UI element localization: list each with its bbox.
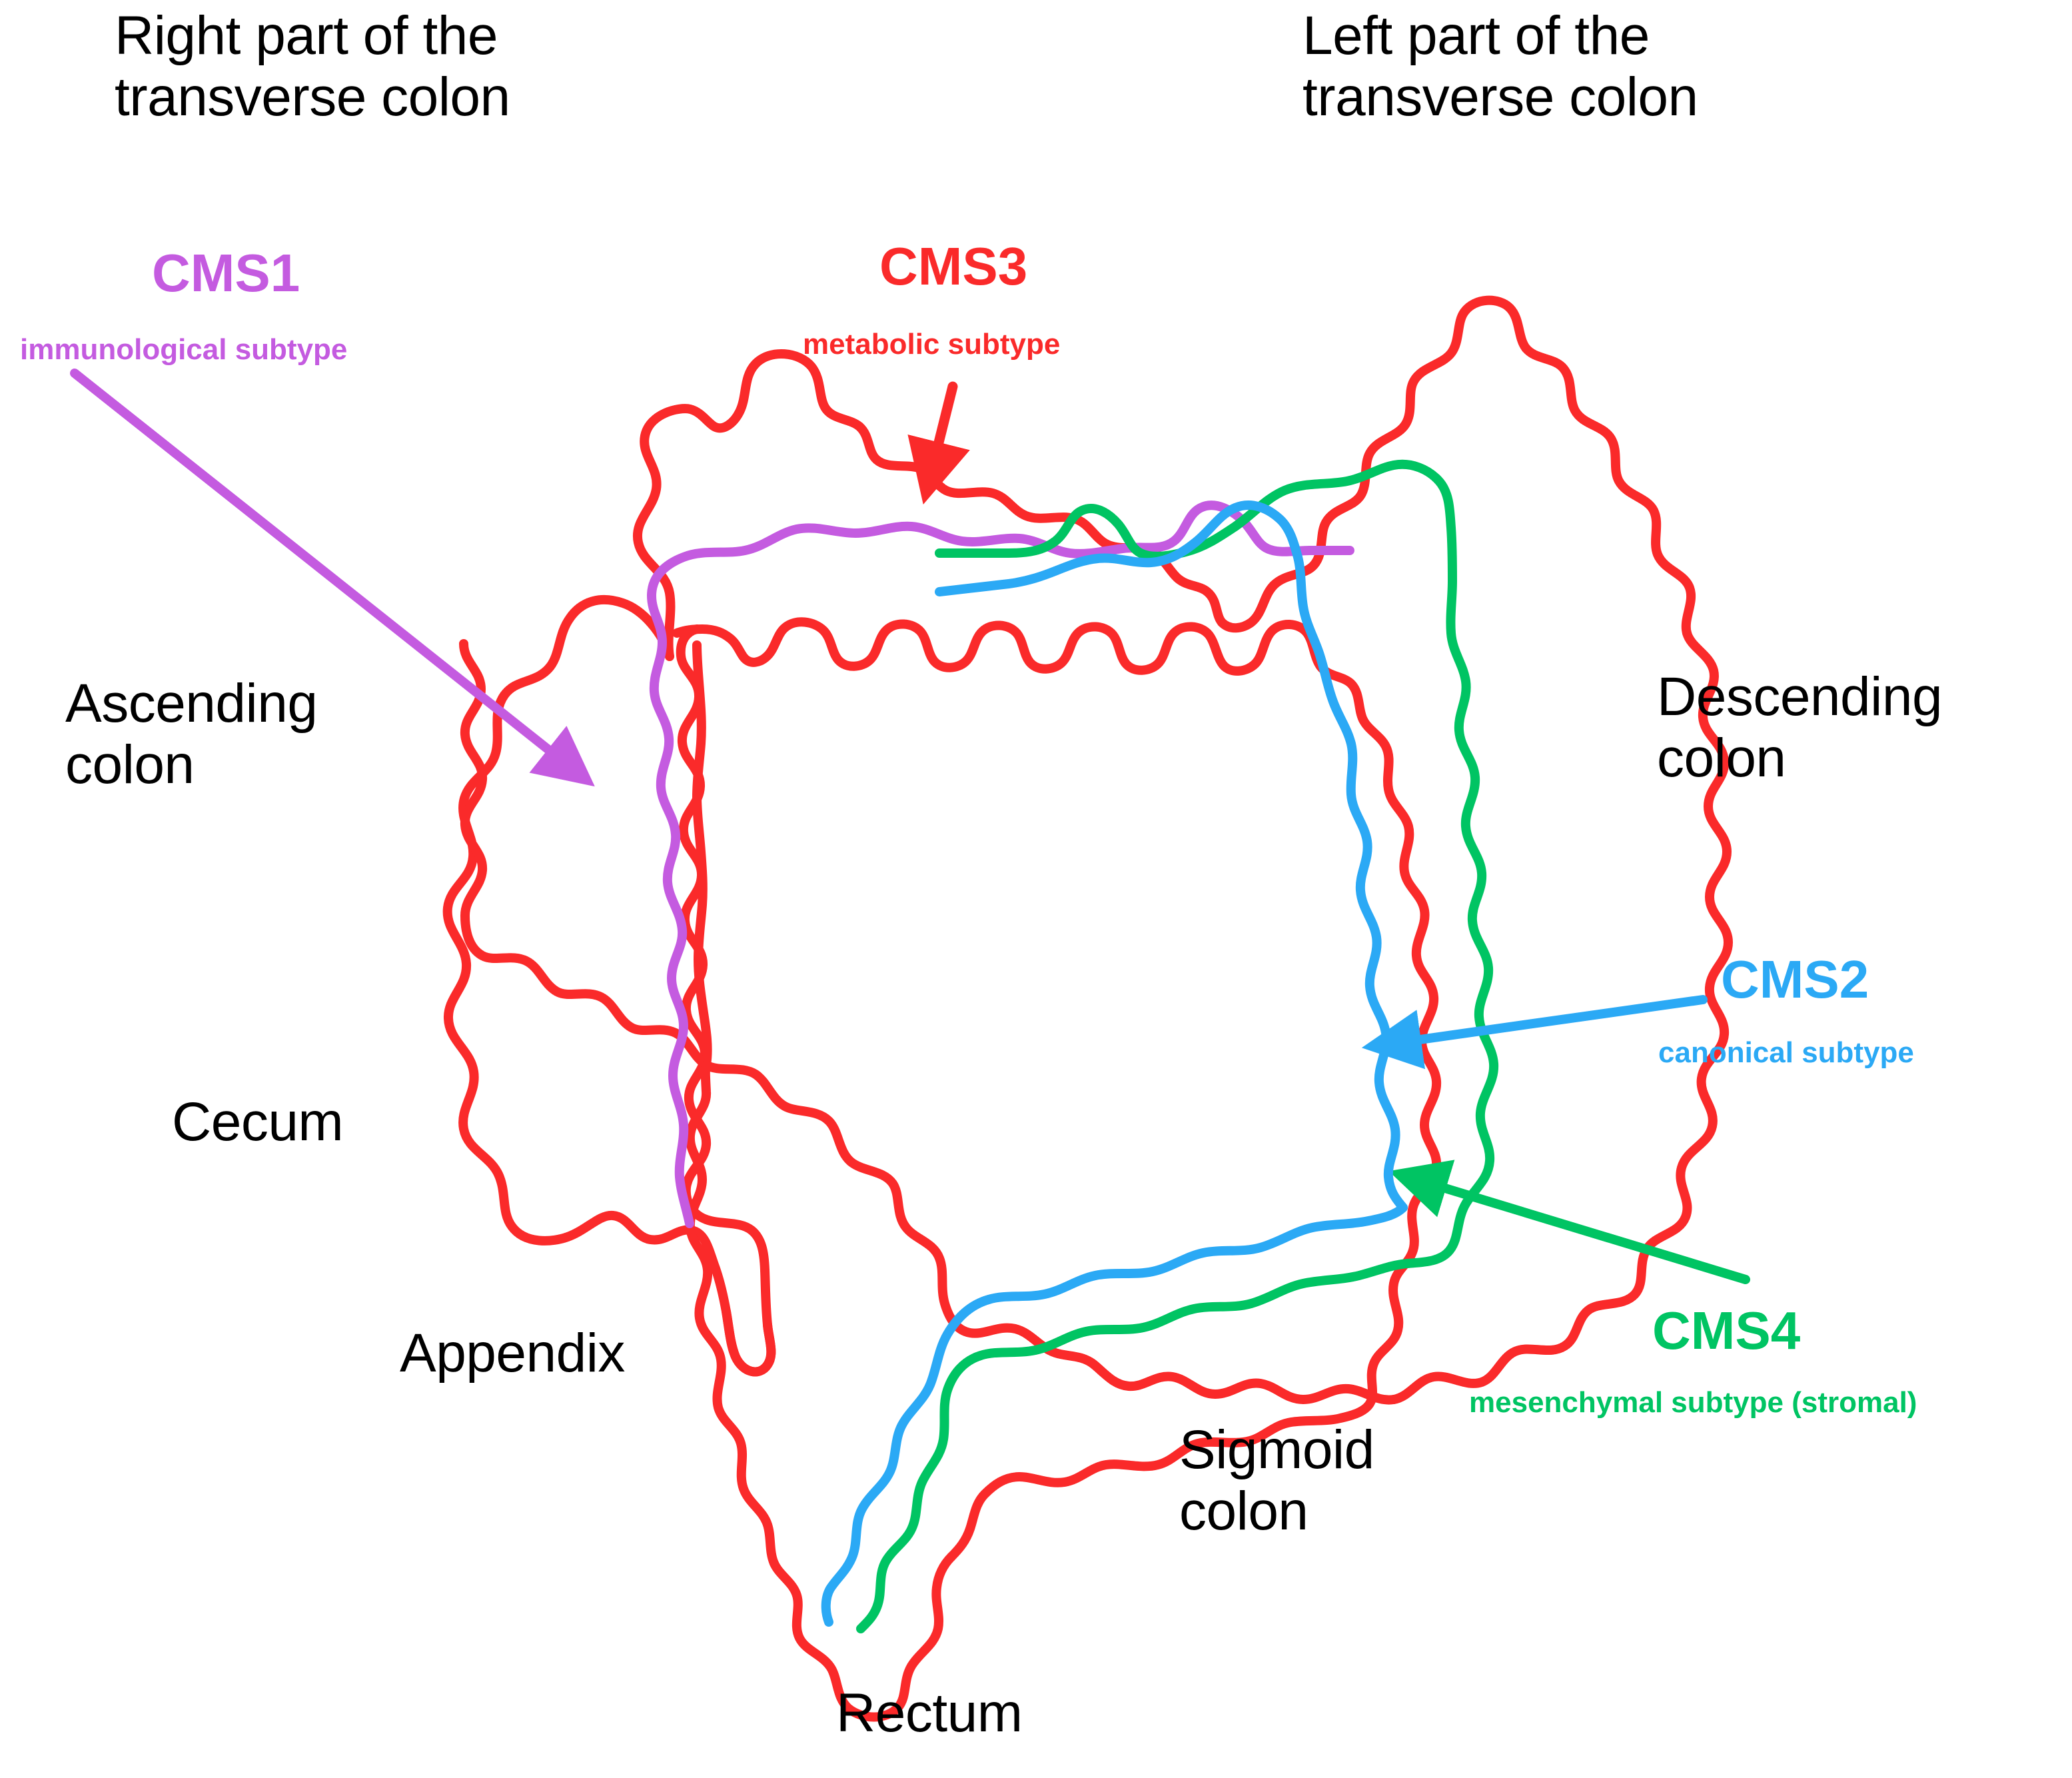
cms3-label[interactable]: CMS3 bbox=[879, 237, 1027, 297]
anatomy-label-rectum: Rectum bbox=[836, 1683, 1023, 1744]
cms1-subtitle: immunological subtype bbox=[20, 333, 347, 366]
anatomy-label-cecum: Cecum bbox=[172, 1092, 343, 1153]
anatomy-label-descending-colon: Descending colon bbox=[1657, 666, 1942, 789]
anatomy-label-appendix: Appendix bbox=[400, 1323, 625, 1384]
anatomy-label-ascending-colon: Ascending colon bbox=[65, 673, 317, 796]
colon-inner-wall-outline bbox=[697, 645, 708, 1065]
cms4-label[interactable]: CMS4 bbox=[1652, 1301, 1800, 1361]
cms4-subtitle: mesenchymal subtype (stromal) bbox=[1469, 1386, 1917, 1419]
cms1-distribution-track bbox=[652, 505, 1350, 1224]
cms2-distribution-track-sigmoid bbox=[826, 1208, 1403, 1622]
colon-inner-transverse-band bbox=[677, 622, 1363, 720]
colon-outer-wall-outline bbox=[448, 600, 772, 1372]
colon-cecum-and-inner-ascending-wall bbox=[681, 629, 765, 1270]
colon-hepatic-flexure-outline bbox=[638, 354, 1222, 656]
cms2-label[interactable]: CMS2 bbox=[1721, 950, 1869, 1010]
cms2-distribution-track bbox=[939, 505, 1403, 1208]
cms3-subtitle: metabolic subtype bbox=[803, 328, 1060, 361]
region-title-left-transverse-colon: Left part of the transverse colon bbox=[1302, 5, 1698, 128]
cms1-label[interactable]: CMS1 bbox=[152, 243, 300, 303]
colon-descending-inner-wall bbox=[1363, 720, 1436, 1401]
colon-anatomy-drawing bbox=[0, 0, 2072, 1778]
cms2-subtitle: canonical subtype bbox=[1658, 1036, 1914, 1069]
cms4-callout-arrow[interactable] bbox=[1399, 1174, 1746, 1280]
region-title-right-transverse-colon: Right part of the transverse colon bbox=[115, 5, 510, 128]
colon-cms-diagram: Right part of the transverse colon Left … bbox=[0, 0, 2072, 1778]
anatomy-label-sigmoid-colon: Sigmoid colon bbox=[1179, 1419, 1374, 1542]
cms3-callout-arrow[interactable] bbox=[926, 387, 953, 493]
